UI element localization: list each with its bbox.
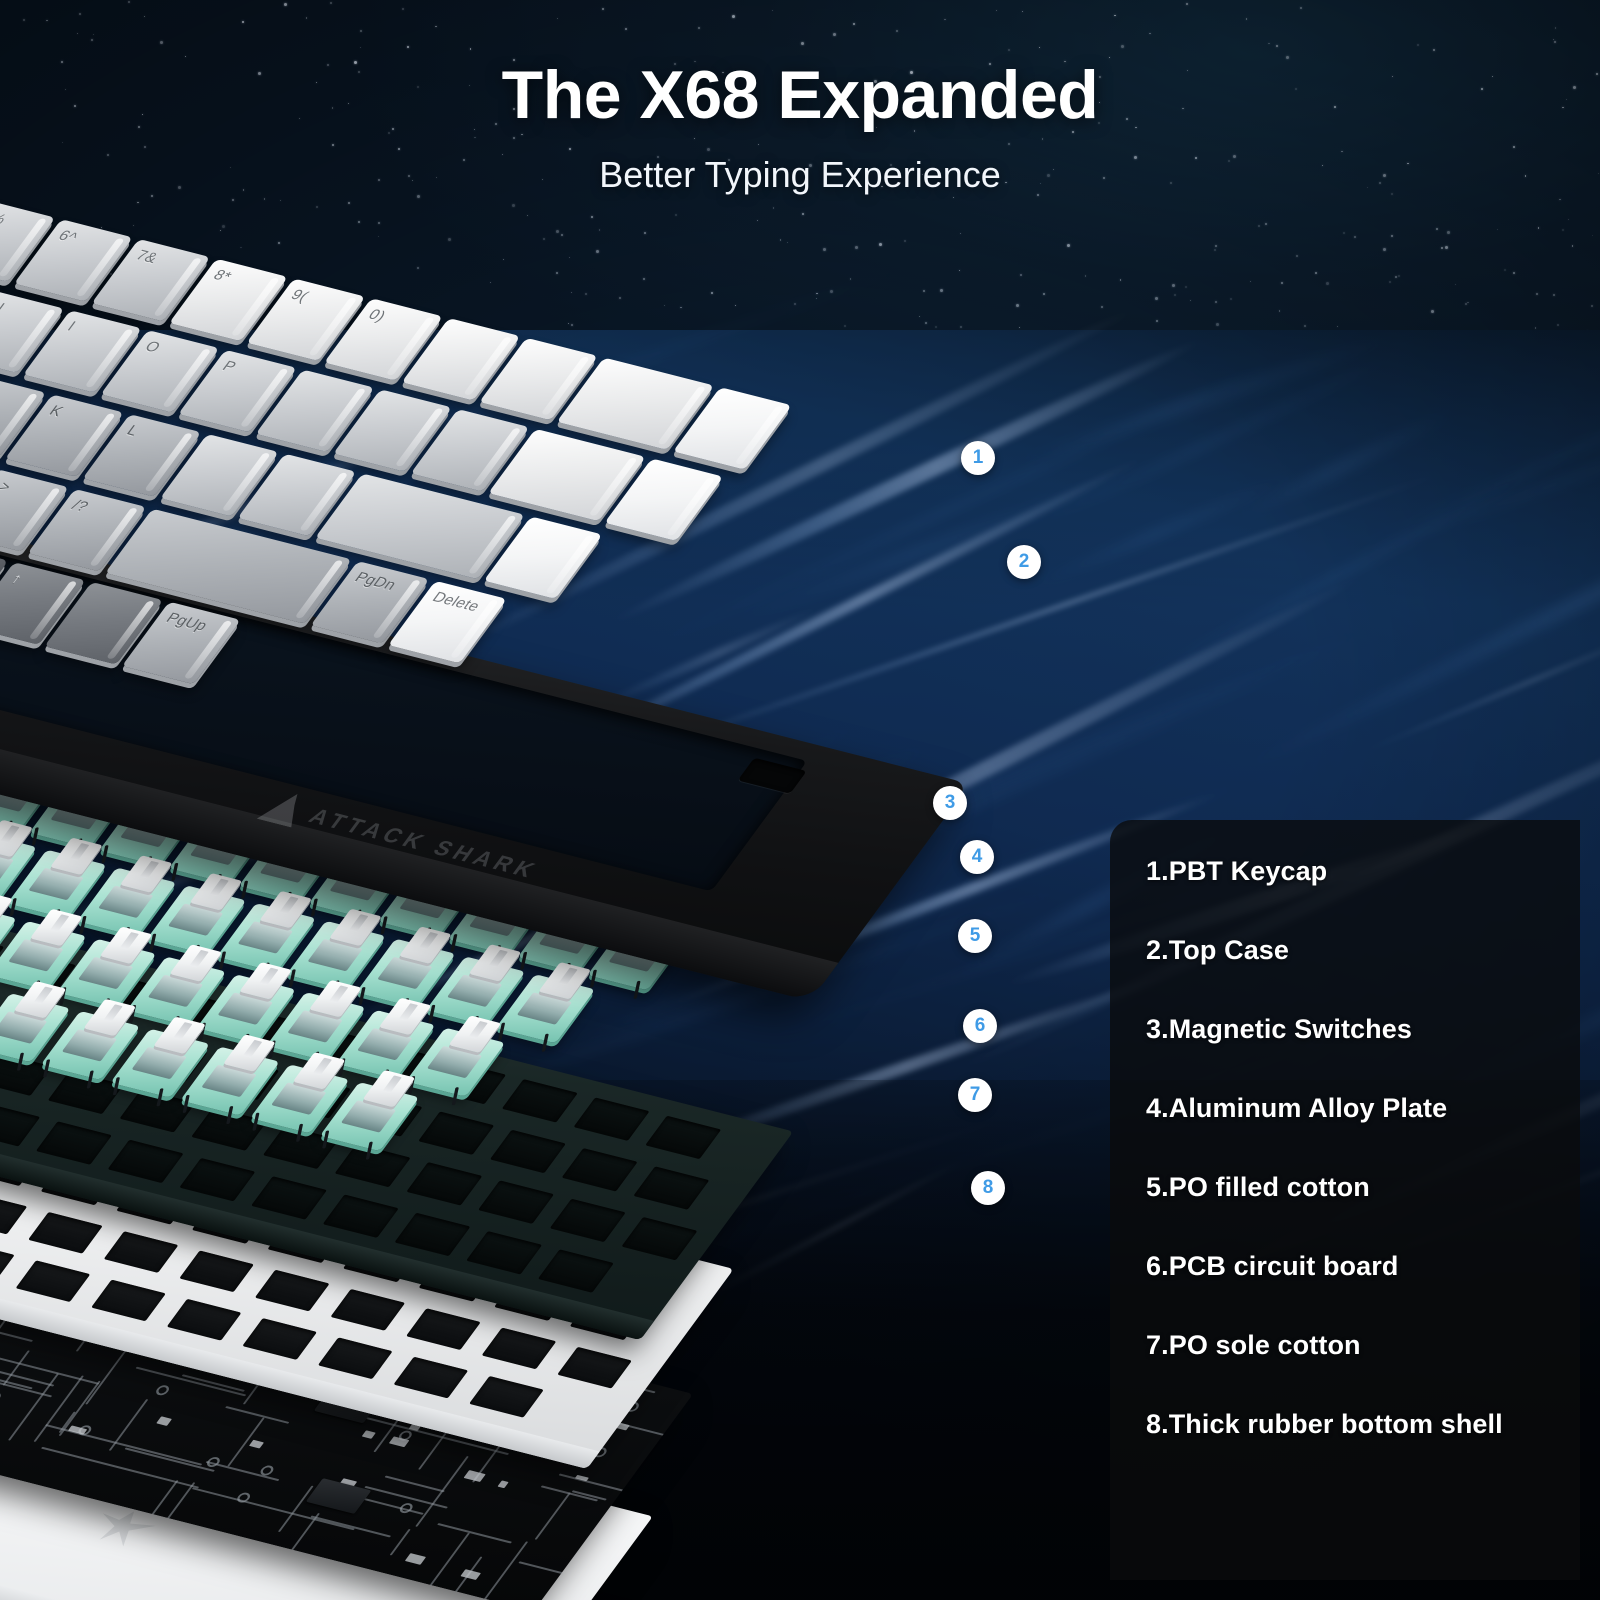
foam-cutout <box>0 1241 15 1283</box>
keycap-label <box>298 369 311 377</box>
legend-item-3: 3.Magnetic Switches <box>1146 1014 1554 1045</box>
legend-item-8: 8.Thick rubber bottom shell <box>1146 1409 1554 1440</box>
pcb-smd-component <box>249 1440 264 1449</box>
foam-cutout <box>0 1193 27 1235</box>
pcb-smd-component <box>405 1553 426 1565</box>
foam-cutout <box>242 1318 317 1360</box>
keycap-label: 9( <box>279 278 317 305</box>
pcb-smd-component <box>464 1470 486 1482</box>
keycap-label: .> <box>0 469 19 495</box>
pcb-trace <box>385 1476 445 1493</box>
keycap-label: PgDn <box>343 561 405 594</box>
keycap-gloss <box>735 406 784 465</box>
callout-badge-6[interactable]: 6 <box>963 1009 997 1043</box>
plate-cutout <box>538 1249 614 1292</box>
keycap-label: 8* <box>201 259 239 286</box>
callout-badge-2[interactable]: 2 <box>1007 545 1041 579</box>
keycap-label <box>280 454 293 462</box>
legend-item-7: 7.PO sole cotton <box>1146 1330 1554 1361</box>
callout-badge-5[interactable]: 5 <box>958 919 992 953</box>
keycap-label <box>444 318 457 326</box>
legend-item-1: 1.PBT Keycap <box>1146 856 1554 887</box>
keycap-gloss <box>545 535 594 594</box>
foam-cutout <box>557 1347 632 1389</box>
plate-cutout <box>251 1176 327 1219</box>
pcb-trace <box>437 1523 512 1544</box>
foam-cutout <box>255 1270 330 1312</box>
callout-badge-7[interactable]: 7 <box>958 1078 992 1112</box>
keycap-label: 0) <box>356 298 394 325</box>
keycap-label <box>716 387 729 395</box>
foam-cutout <box>469 1376 544 1418</box>
callout-badge-4[interactable]: 4 <box>960 840 994 874</box>
keycap-label: Delete <box>420 581 488 615</box>
callout-badge-8[interactable]: 8 <box>971 1171 1005 1205</box>
plate-cutout <box>108 1140 184 1183</box>
foam-cutout <box>167 1299 242 1341</box>
foam-cutout <box>318 1337 393 1379</box>
pcb-chip <box>306 1478 372 1514</box>
pcb-trace <box>85 1348 128 1405</box>
page-subtitle: Better Typing Experience <box>0 154 1600 196</box>
keycap-label: U <box>0 290 12 316</box>
foam-cutout <box>104 1231 179 1273</box>
keycap-label <box>358 473 371 481</box>
keycap-label <box>527 516 540 524</box>
keycap-label <box>522 338 535 346</box>
plate-cutout <box>36 1121 112 1164</box>
keycap-label: 5% <box>0 199 14 228</box>
legend-item-4: 4.Aluminum Alloy Plate <box>1146 1093 1554 1124</box>
legend-item-2: 2.Top Case <box>1146 935 1554 966</box>
pcb-smd-component <box>497 1480 508 1488</box>
plate-cutout <box>394 1213 470 1256</box>
keycap-label <box>454 409 467 417</box>
pcb-trace <box>535 1492 571 1539</box>
keycap-label: 7& <box>124 239 166 267</box>
pcb-smd-component <box>156 1416 172 1426</box>
pcb-pad <box>0 1391 3 1403</box>
foam-cutout <box>330 1289 405 1331</box>
legend-item-5: 5.PO filled cotton <box>1146 1172 1554 1203</box>
plate-cutout <box>179 1158 255 1201</box>
legend-panel: 1.PBT Keycap 2.Top Case 3.Magnetic Switc… <box>1110 820 1580 1580</box>
keycap-label: ↑ <box>0 562 30 587</box>
page-title: The X68 Expanded <box>0 56 1600 134</box>
foam-cutout <box>91 1280 166 1322</box>
keycap-label <box>203 434 216 442</box>
keycap-gloss <box>666 477 715 536</box>
pcb-trace <box>41 1447 199 1489</box>
plate-cutout <box>466 1231 542 1274</box>
keycap-label <box>148 509 161 517</box>
legend-item-6: 6.PCB circuit board <box>1146 1251 1554 1282</box>
foam-cutout <box>28 1212 103 1254</box>
keycap-label <box>647 458 660 466</box>
keycap-label <box>531 429 544 437</box>
keycap-label <box>600 357 613 365</box>
keycap-label: 6^ <box>46 219 86 246</box>
foam-cutout <box>393 1357 468 1399</box>
keycap-label: PgUp <box>154 602 216 635</box>
keycap-label <box>376 389 389 397</box>
foam-cutout <box>179 1251 254 1293</box>
pcb-trace <box>390 1529 411 1556</box>
foam-cutout <box>406 1308 481 1350</box>
callout-badge-3[interactable]: 3 <box>933 786 967 820</box>
pcb-pad <box>154 1384 172 1396</box>
foam-cutout <box>16 1260 91 1302</box>
pcb-trace <box>124 1447 214 1471</box>
pcb-trace <box>478 1541 528 1600</box>
callout-badge-1[interactable]: 1 <box>961 441 995 475</box>
foam-cutout <box>482 1328 557 1370</box>
pcb-smd-component <box>575 1475 589 1481</box>
keycap-label <box>87 582 100 590</box>
pcb-trace <box>225 1406 289 1424</box>
header-block: The X68 Expanded Better Typing Experienc… <box>0 56 1600 196</box>
infographic-stage: The X68 Expanded Better Typing Experienc… <box>0 0 1600 1600</box>
pcb-smd-component <box>362 1430 376 1439</box>
plate-cutout <box>323 1195 399 1238</box>
pcb-trace <box>310 1515 391 1537</box>
